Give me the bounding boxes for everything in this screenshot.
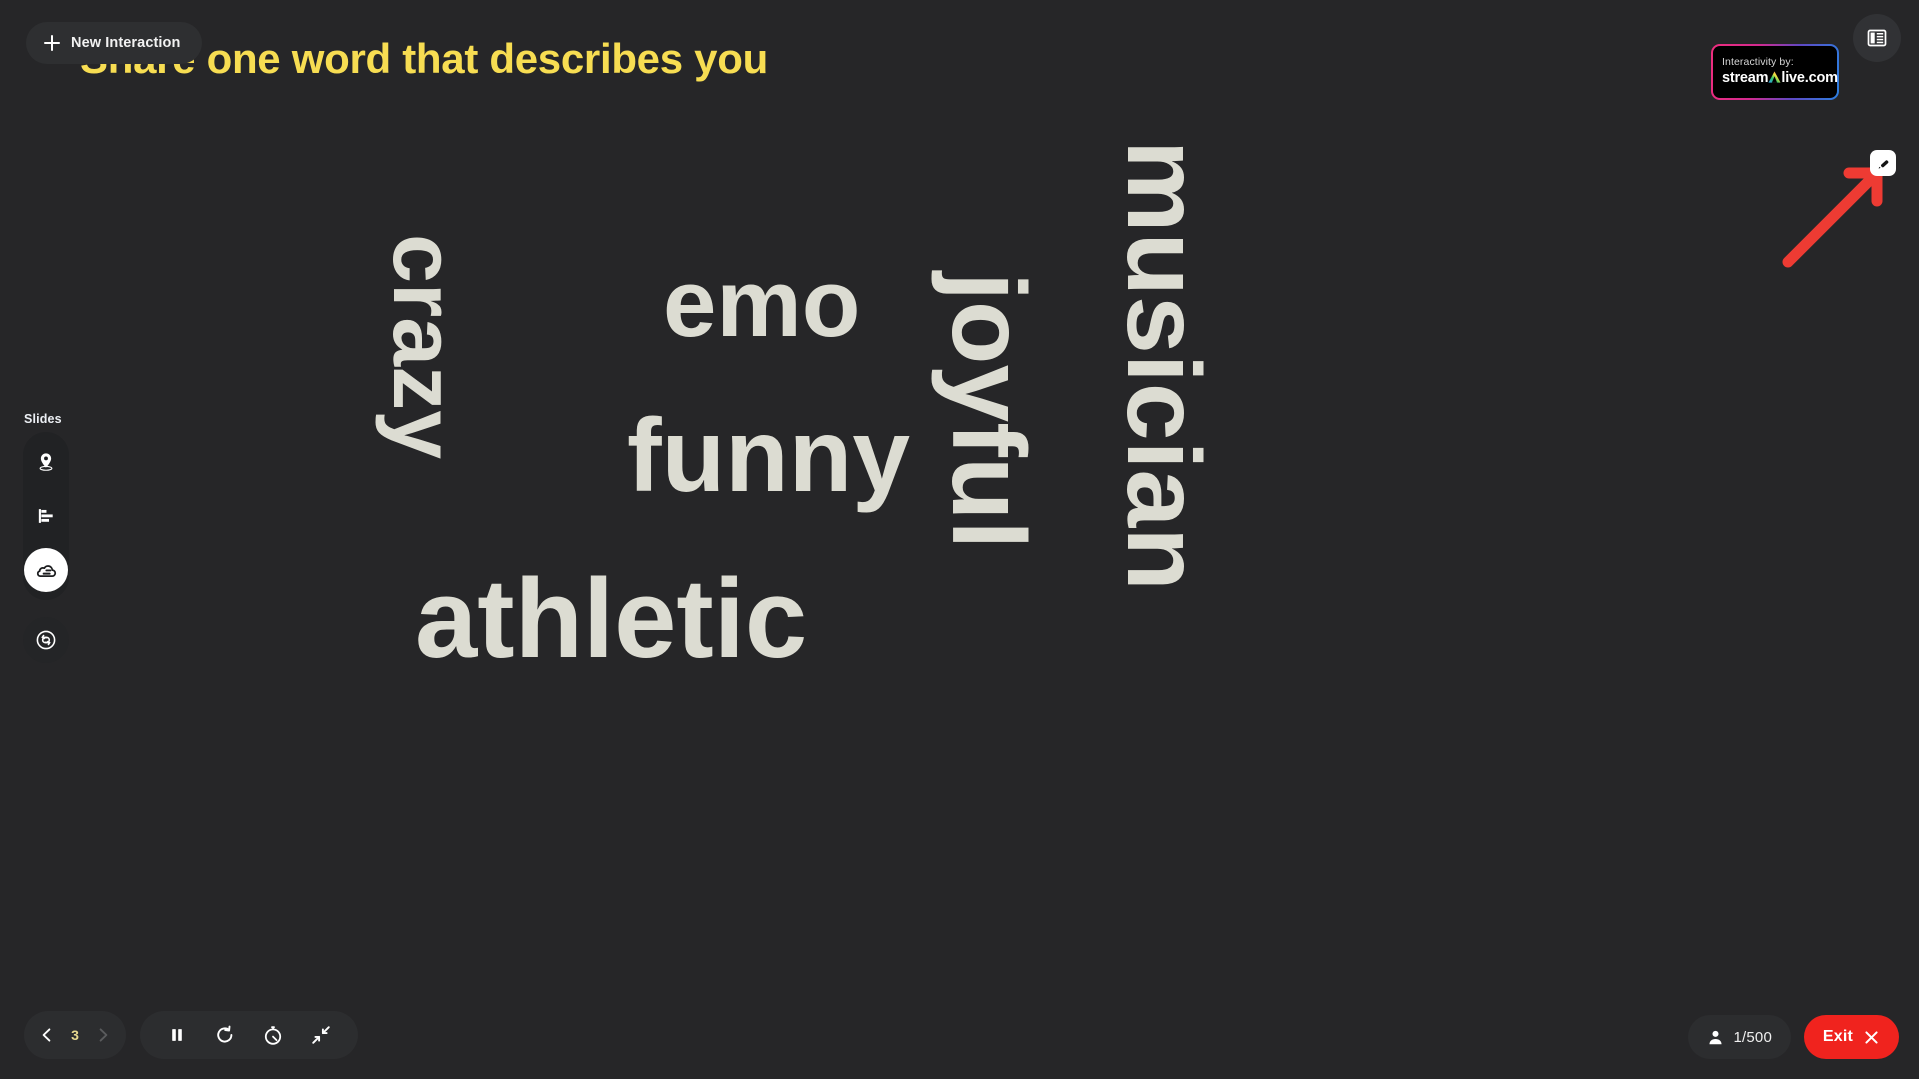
panel-layout-icon xyxy=(1866,27,1888,49)
participant-counter[interactable]: 1/500 xyxy=(1688,1015,1791,1059)
close-icon xyxy=(1863,1029,1880,1046)
pause-icon xyxy=(167,1025,187,1045)
next-slide-button[interactable] xyxy=(94,1026,112,1044)
branding-name: stream xyxy=(1722,70,1838,87)
pencil-icon xyxy=(1876,156,1891,171)
presentation-stage: New Interaction Share one word that desc… xyxy=(0,0,1919,1079)
cloud-word: musician xyxy=(1111,140,1215,591)
chevron-right-icon xyxy=(95,1027,111,1043)
playback-toolbar xyxy=(140,1011,358,1059)
collapse-button[interactable] xyxy=(308,1022,334,1048)
cloud-word: crazy xyxy=(380,234,468,459)
restart-button[interactable] xyxy=(212,1022,238,1048)
streamalive-badge[interactable]: Interactivity by: stream xyxy=(1711,44,1839,100)
timer-button[interactable] xyxy=(260,1022,286,1048)
panel-layout-button[interactable] xyxy=(1853,14,1901,62)
sidebar-title: Slides xyxy=(24,412,62,426)
new-interaction-button[interactable]: New Interaction xyxy=(26,22,202,64)
word-cloud: crazyemojoyfulmusicianfunnyathletic xyxy=(0,0,1919,1079)
sidebar-item-word-cloud[interactable] xyxy=(24,548,68,592)
pause-button[interactable] xyxy=(164,1022,190,1048)
plus-icon xyxy=(44,35,60,51)
participant-count: 1/500 xyxy=(1733,1029,1772,1046)
chevron-left-icon xyxy=(39,1027,55,1043)
branding-prefix: Interactivity by: xyxy=(1722,57,1794,69)
cloud-word: joyful xyxy=(936,272,1040,549)
word-cloud-icon xyxy=(34,558,58,582)
map-pin-icon xyxy=(35,451,57,473)
prev-slide-button[interactable] xyxy=(38,1026,56,1044)
page-number: 3 xyxy=(71,1027,79,1043)
cloud-word: funny xyxy=(627,404,910,508)
sidebar-rail xyxy=(23,432,69,600)
exit-label: Exit xyxy=(1823,1028,1853,1046)
branding-name-left: stream xyxy=(1722,71,1768,87)
slide-pager: 3 xyxy=(24,1011,126,1059)
cloud-word: athletic xyxy=(415,563,807,675)
person-icon xyxy=(1707,1029,1724,1046)
bar-chart-icon xyxy=(35,505,57,527)
sidebar-item-map[interactable] xyxy=(24,440,68,484)
timer-icon xyxy=(262,1024,284,1046)
sidebar-item-chart[interactable] xyxy=(24,494,68,538)
exit-button[interactable]: Exit xyxy=(1804,1015,1899,1059)
branding-name-right: live.com xyxy=(1781,71,1837,87)
cloud-word: emo xyxy=(663,256,860,352)
new-interaction-label: New Interaction xyxy=(71,35,180,51)
sidebar-refresh-button[interactable] xyxy=(23,617,69,663)
edit-button[interactable] xyxy=(1870,150,1896,176)
refresh-icon xyxy=(34,628,58,652)
collapse-icon xyxy=(310,1024,332,1046)
streamalive-logo-icon xyxy=(1768,71,1781,83)
reload-icon xyxy=(214,1024,236,1046)
